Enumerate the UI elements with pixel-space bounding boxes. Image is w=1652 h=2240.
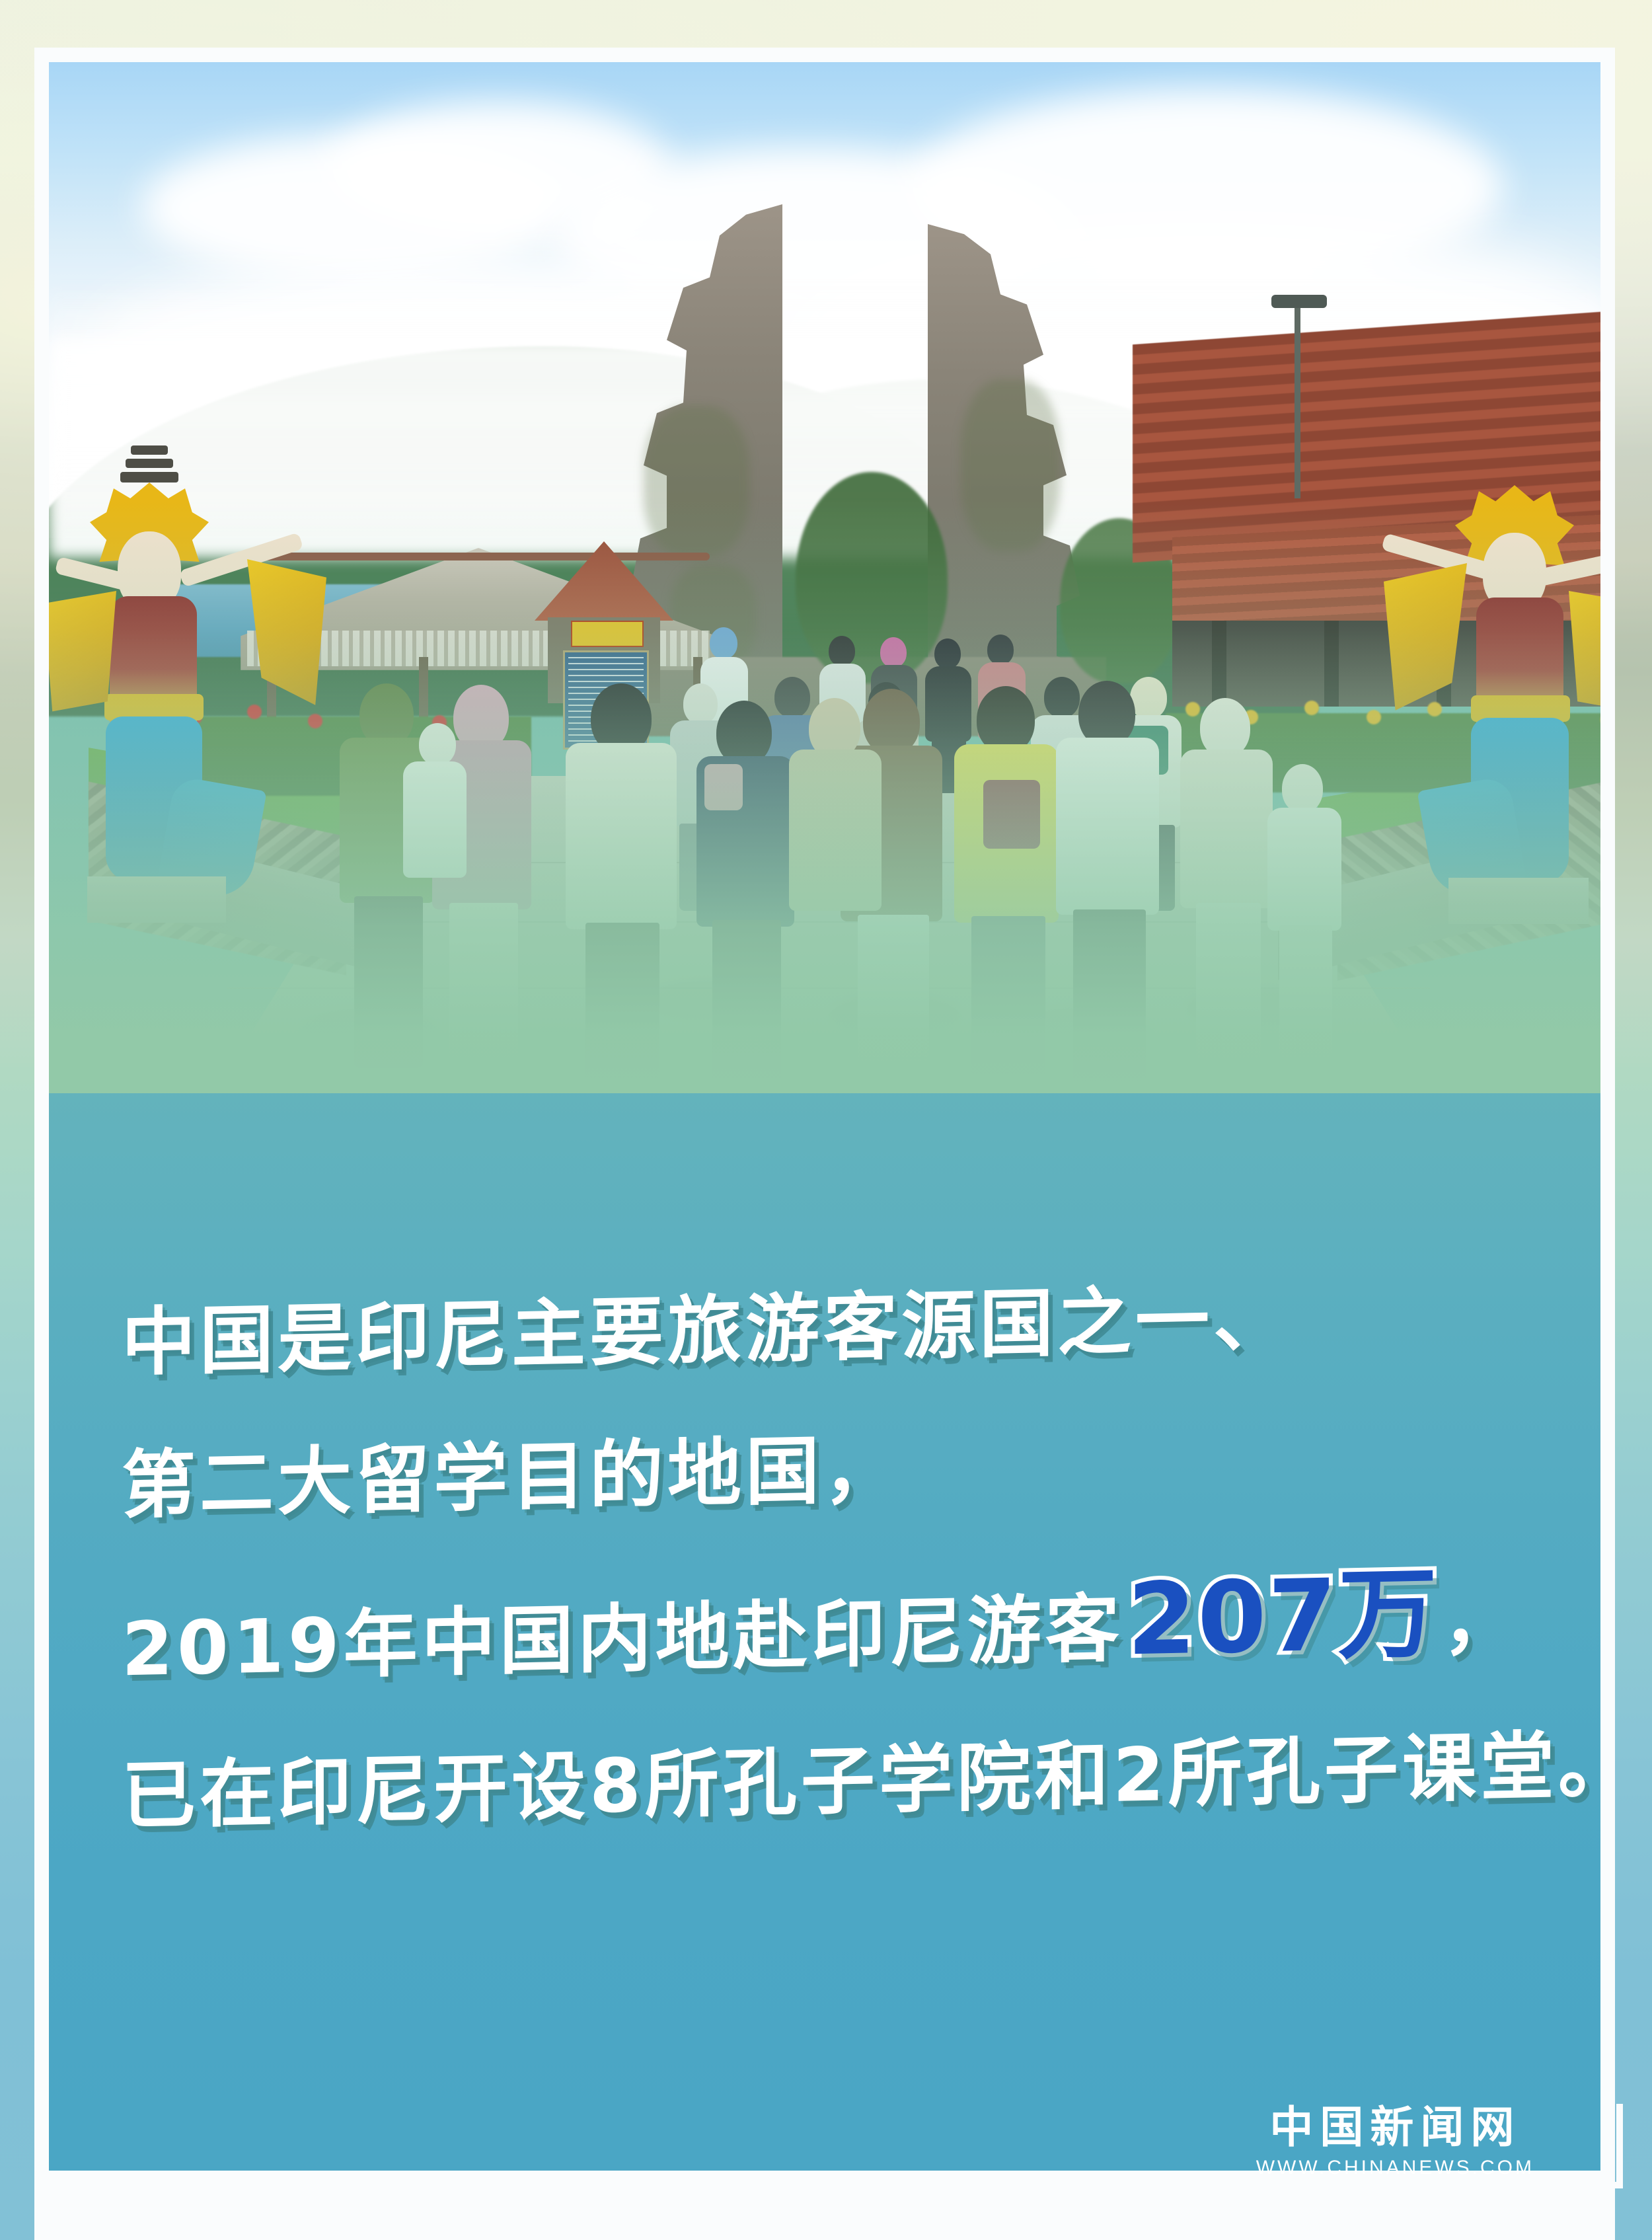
hero-photo bbox=[49, 62, 1600, 1093]
publisher-url: WWW.CHINANEWS.COM bbox=[1256, 2157, 1534, 2179]
photo-bottom-fade bbox=[49, 498, 1600, 1093]
copy-line-4: 已在印尼开设8所孔子学院和2所孔子课堂。 bbox=[122, 1730, 1528, 1834]
poster-root: 中国是印尼主要旅游客源国之一、 第二大留学目的地国， 2019年中国内地赴印尼游… bbox=[0, 0, 1652, 2240]
copy-line-3-suffix: ， bbox=[1443, 1578, 1521, 1665]
headline-copy-block: 中国是印尼主要旅游客源国之一、 第二大留学目的地国， 2019年中国内地赴印尼游… bbox=[49, 1292, 1600, 1819]
content-panel: 中国是印尼主要旅游客源国之一、 第二大留学目的地国， 2019年中国内地赴印尼游… bbox=[49, 62, 1600, 2171]
publisher-name-cn: 中国新闻网 bbox=[1256, 2105, 1534, 2149]
copy-line-2: 第二大留学目的地国， bbox=[122, 1420, 1528, 1524]
copy-line-1: 中国是印尼主要旅游客源国之一、 bbox=[122, 1277, 1528, 1381]
copy-line-3: 2019年中国内地赴印尼游客207万， bbox=[122, 1563, 1528, 1691]
stat-highlight-207wan: 207万 bbox=[1123, 1556, 1443, 1678]
logo-corner-bracket bbox=[1544, 2104, 1623, 2188]
copy-line-3-prefix: 2019年中国内地赴印尼游客 bbox=[122, 1586, 1123, 1693]
publisher-logo: 中国新闻网 WWW.CHINANEWS.COM bbox=[1256, 2105, 1534, 2179]
